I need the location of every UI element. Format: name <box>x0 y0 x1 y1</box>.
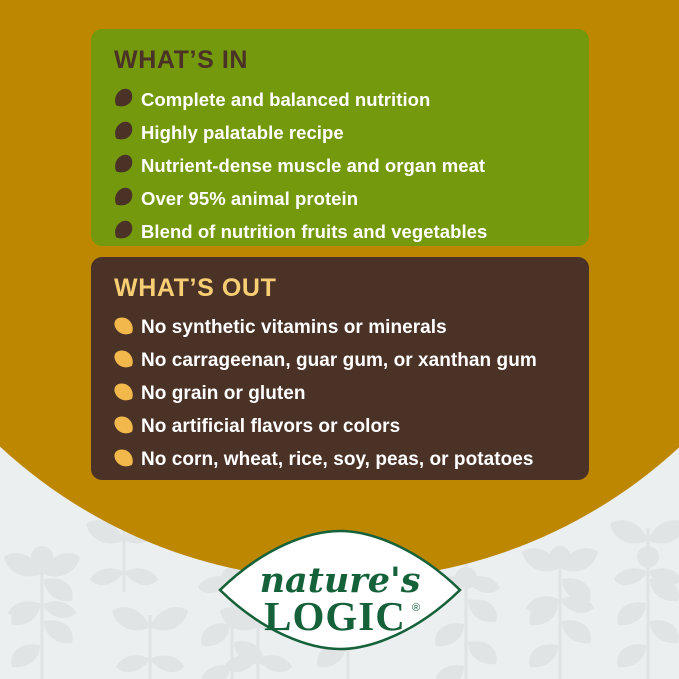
whats-out-title: WHAT’S OUT <box>114 275 567 301</box>
list-item: Complete and balanced nutrition <box>113 85 567 115</box>
list-item-label: Over 95% animal protein <box>141 184 358 214</box>
list-item-label: No carrageenan, guar gum, or xanthan gum <box>141 346 537 376</box>
leaf-icon <box>113 415 135 435</box>
list-item-label: No synthetic vitamins or minerals <box>141 313 447 343</box>
leaf-icon <box>113 316 135 336</box>
whats-out-list: No synthetic vitamins or minerals No car… <box>113 313 567 475</box>
list-item-label: No corn, wheat, rice, soy, peas, or pota… <box>141 445 534 475</box>
whats-in-title: WHAT’S IN <box>114 47 567 73</box>
leaf-icon <box>113 382 135 402</box>
list-item-label: Complete and balanced nutrition <box>141 85 430 115</box>
list-item-label: Nutrient-dense muscle and organ meat <box>141 151 485 181</box>
list-item: No grain or gluten <box>113 379 567 409</box>
list-item: Nutrient-dense muscle and organ meat <box>113 151 567 181</box>
whats-in-list: Complete and balanced nutrition Highly p… <box>113 85 567 247</box>
leaf-icon <box>113 121 135 141</box>
whats-in-panel: WHAT’S IN Complete and balanced nutritio… <box>91 29 589 246</box>
logo-registered-icon: ® <box>412 602 420 614</box>
list-item: Highly palatable recipe <box>113 118 567 148</box>
product-infographic: WHAT’S IN Complete and balanced nutritio… <box>0 0 679 679</box>
logo-wordmark-text: LOGIC <box>264 593 406 639</box>
brand-logo: nature's LOGIC ® <box>218 529 462 651</box>
leaf-icon <box>113 154 135 174</box>
list-item: Blend of nutrition fruits and vegetables <box>113 217 567 247</box>
leaf-icon <box>113 220 135 240</box>
leaf-icon <box>113 349 135 369</box>
list-item: No synthetic vitamins or minerals <box>113 313 567 343</box>
leaf-icon <box>113 88 135 108</box>
list-item-label: No artificial flavors or colors <box>141 412 400 442</box>
list-item: No artificial flavors or colors <box>113 412 567 442</box>
list-item-label: No grain or gluten <box>141 379 306 409</box>
list-item: No corn, wheat, rice, soy, peas, or pota… <box>113 445 567 475</box>
leaf-icon <box>113 448 135 468</box>
list-item: Over 95% animal protein <box>113 184 567 214</box>
leaf-icon <box>113 187 135 207</box>
list-item: No carrageenan, guar gum, or xanthan gum <box>113 346 567 376</box>
whats-out-panel: WHAT’S OUT No synthetic vitamins or mine… <box>91 257 589 480</box>
list-item-label: Blend of nutrition fruits and vegetables <box>141 217 487 247</box>
list-item-label: Highly palatable recipe <box>141 118 344 148</box>
